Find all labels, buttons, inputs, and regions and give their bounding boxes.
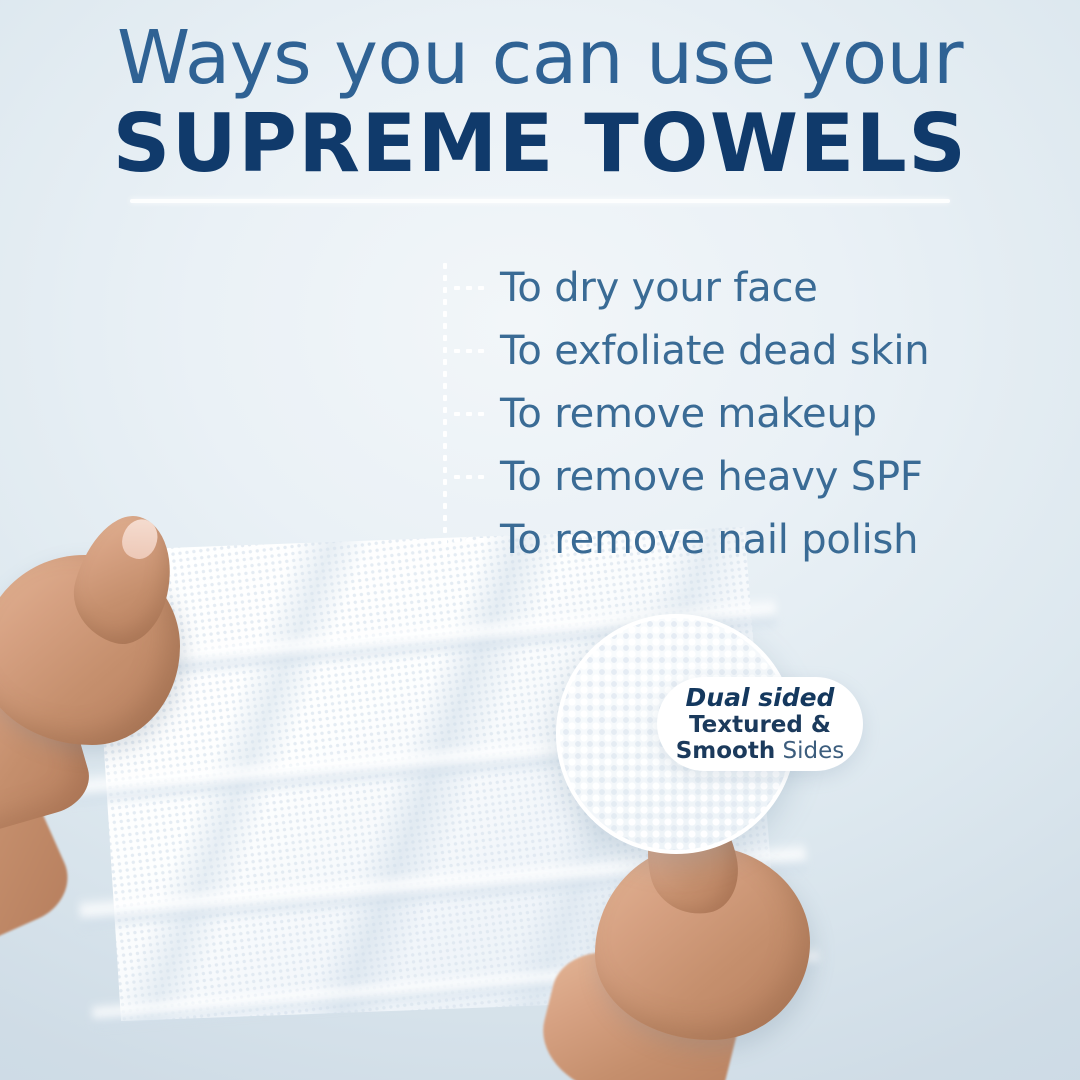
- headline-line-2: SUPREME TOWELS: [0, 103, 1080, 185]
- list-item: To remove nail polish: [443, 508, 983, 571]
- product-infographic: Dual sided Textured & Smooth Sides Ways …: [0, 0, 1080, 1080]
- left-hand: [0, 525, 250, 885]
- list-item: To remove makeup: [443, 382, 983, 445]
- page-title: Ways you can use your SUPREME TOWELS: [0, 22, 1080, 184]
- badge-sub-line2-light: Sides: [775, 738, 844, 764]
- dual-sided-badge: Dual sided Textured & Smooth Sides: [657, 677, 863, 771]
- list-item-label: To remove nail polish: [500, 517, 918, 563]
- badge-sub-line2-bold: Smooth: [676, 738, 776, 764]
- headline-divider: [130, 199, 950, 203]
- list-item-label: To remove makeup: [500, 391, 877, 437]
- benefit-list: To dry your face To exfoliate dead skin …: [443, 256, 983, 571]
- list-item: To dry your face: [443, 256, 983, 319]
- dotted-branch-icon: [451, 412, 485, 416]
- list-item-label: To dry your face: [500, 265, 818, 311]
- list-item-label: To exfoliate dead skin: [500, 328, 929, 374]
- headline-line-1: Ways you can use your: [0, 22, 1080, 95]
- list-item-label: To remove heavy SPF: [500, 454, 923, 500]
- list-item: To exfoliate dead skin: [443, 319, 983, 382]
- dotted-branch-icon: [451, 349, 485, 353]
- dotted-branch-icon: [451, 286, 485, 290]
- badge-subtitle: Textured & Smooth Sides: [676, 713, 845, 765]
- dotted-branch-icon: [451, 475, 485, 479]
- badge-sub-line1: Textured &: [689, 712, 831, 738]
- dotted-branch-icon: [451, 538, 485, 542]
- list-item: To remove heavy SPF: [443, 445, 983, 508]
- badge-title: Dual sided: [686, 684, 835, 712]
